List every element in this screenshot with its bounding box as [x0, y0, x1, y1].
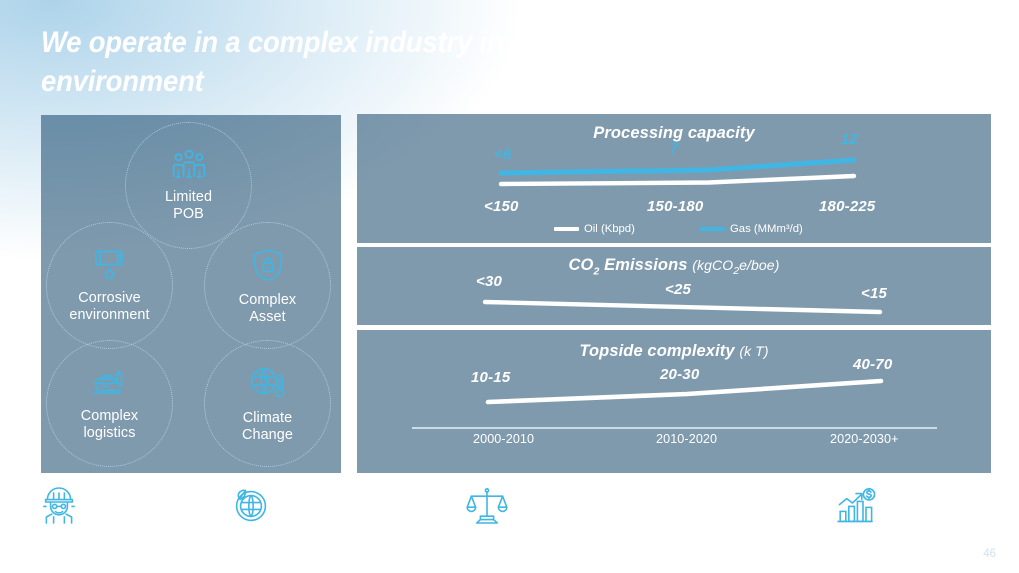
gas-value-1: <6	[494, 146, 512, 163]
factor-circle-complex-logistics[interactable]: Complex logistics	[46, 340, 173, 467]
factor-label: Corrosive environment	[69, 290, 149, 325]
chart-co2-emissions: CO2 Emissions (kgCO2e/boe) <30 <25 <15	[357, 247, 991, 325]
axis-label-3: 2020-2030+	[830, 432, 899, 446]
factor-circle-climate-change[interactable]: Climate Change	[204, 340, 331, 467]
processing-capacity-lines	[357, 114, 991, 243]
challenges-panel: Limited POB Corrosive environment Comple…	[41, 115, 341, 473]
scales-balance-icon	[466, 487, 508, 530]
co2-value-2: <25	[665, 281, 691, 298]
factor-circle-complex-asset[interactable]: Complex Asset	[204, 222, 331, 349]
page-title: We operate in a complex industry in an i…	[41, 23, 906, 101]
legend-swatch-gas	[700, 227, 725, 231]
oil-value-3: 180-225	[819, 198, 875, 215]
legend-swatch-oil	[554, 227, 579, 231]
topside-value-2: 20-30	[660, 366, 699, 383]
gas-value-3: 12	[841, 131, 858, 148]
gas-value-2: 7	[670, 140, 679, 157]
pillar-label: EFFICIENCY	[885, 496, 1012, 521]
factor-label: Limited POB	[165, 189, 212, 224]
bar-chart-dollar-icon	[836, 487, 878, 530]
chart-topside-complexity: Topside complexity (k T) 10-15 20-30 40-…	[357, 330, 991, 473]
pipe-drip-icon	[92, 248, 128, 285]
pillar-label: ENVIRONMENT	[275, 495, 433, 520]
axis-label-1: 2000-2010	[473, 432, 534, 446]
legend-label-gas: Gas (MMm³/d)	[730, 223, 803, 235]
people-group-icon	[172, 149, 206, 184]
pillar-efficiency[interactable]: EFFICIENCY	[836, 487, 1012, 530]
page-number: 46	[983, 548, 996, 560]
axis-label-2: 2010-2020	[656, 432, 717, 446]
factor-label: Climate Change	[242, 410, 293, 445]
globe-thermometer-icon	[250, 366, 286, 405]
topside-complexity-line	[357, 330, 991, 473]
co2-value-1: <30	[476, 273, 502, 290]
legend-item-gas: Gas (MMm³/d)	[700, 223, 803, 235]
oil-value-1: <150	[484, 198, 519, 215]
co2-value-3: <15	[861, 285, 887, 302]
factor-label: Complex logistics	[81, 408, 138, 443]
chart-processing-capacity: Processing capacity <6 7 12 <150 150-180…	[357, 114, 991, 243]
legend-item-oil: Oil (Kbpd)	[554, 223, 635, 235]
legend-label-oil: Oil (Kbpd)	[584, 223, 635, 235]
shield-lock-icon	[252, 248, 284, 287]
pillar-label: SAFETY	[84, 496, 168, 521]
pillar-safety[interactable]: SAFETY	[41, 487, 168, 530]
topside-value-1: 10-15	[471, 369, 510, 386]
factor-label: Complex Asset	[239, 292, 296, 327]
globe-leaf-icon	[232, 487, 268, 528]
pillar-label: REGULATORY COMPLIANCE	[515, 496, 811, 521]
oil-value-2: 150-180	[647, 198, 703, 215]
factor-circle-limited-pob[interactable]: Limited POB	[125, 122, 252, 249]
worker-helmet-icon	[41, 487, 77, 530]
cargo-ship-icon	[91, 366, 129, 403]
pillar-environment[interactable]: ENVIRONMENT	[232, 487, 433, 528]
topside-value-3: 40-70	[853, 356, 892, 373]
factor-circle-corrosive-environment[interactable]: Corrosive environment	[46, 222, 173, 349]
pillar-regulatory-compliance[interactable]: REGULATORY COMPLIANCE	[466, 487, 811, 530]
